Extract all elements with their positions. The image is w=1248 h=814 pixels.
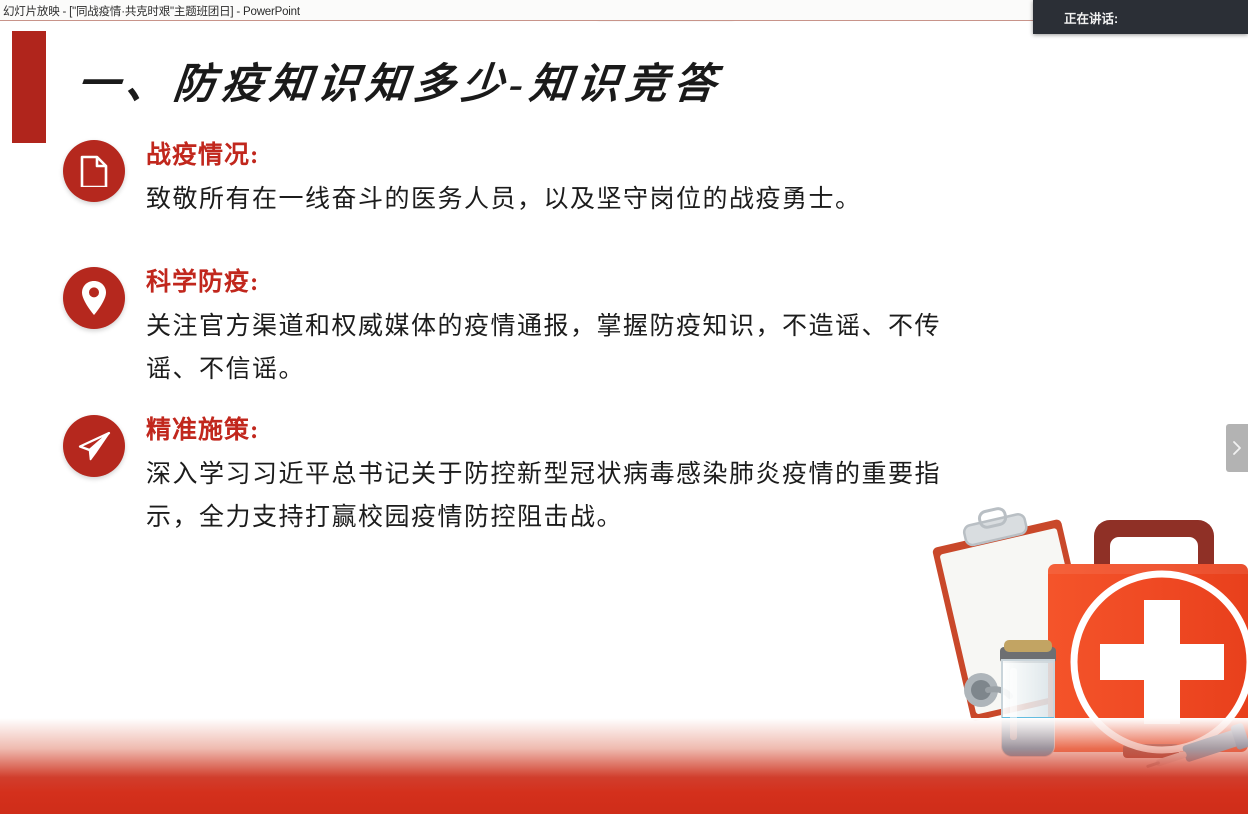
section-title: 战疫情况: — [146, 140, 976, 171]
document-icon — [63, 140, 125, 202]
speaking-status-panel[interactable]: 正在讲话: — [1033, 0, 1248, 34]
slide-bottom-band — [0, 718, 1248, 814]
section-body: 科学防疫: 关注官方渠道和权威媒体的疫情通报，掌握防疫知识，不造谣、不传谣、不信… — [146, 267, 976, 391]
section-title: 科学防疫: — [146, 267, 976, 298]
section-body: 精准施策: 深入学习习近平总书记关于防控新型冠状病毒感染肺炎疫情的重要指示，全力… — [146, 415, 976, 539]
next-slide-button[interactable] — [1226, 424, 1248, 472]
slide-canvas[interactable]: 一、防疫知识知多少-知识竞答 战疫情况: 致敬所有在一线奋斗的医务人员，以及坚守… — [0, 22, 1248, 814]
section-title: 精准施策: — [146, 415, 976, 446]
window-title: 幻灯片放映 - ["同战疫情·共克时艰"主题班团日] - PowerPoint — [3, 3, 300, 19]
section-text: 深入学习习近平总书记关于防控新型冠状病毒感染肺炎疫情的重要指示，全力支持打赢校园… — [146, 453, 976, 539]
section-body: 战疫情况: 致敬所有在一线奋斗的医务人员，以及坚守岗位的战疫勇士。 — [146, 140, 976, 221]
paper-plane-icon — [63, 415, 125, 477]
speaking-status-label: 正在讲话: — [1064, 8, 1118, 27]
title-accent-bar — [12, 31, 46, 143]
location-pin-icon — [63, 267, 125, 329]
section-text: 关注官方渠道和权威媒体的疫情通报，掌握防疫知识，不造谣、不传谣、不信谣。 — [146, 305, 976, 391]
slide-heading: 一、防疫知识知多少-知识竞答 — [75, 50, 725, 111]
section-text: 致敬所有在一线奋斗的医务人员，以及坚守岗位的战疫勇士。 — [146, 178, 976, 221]
